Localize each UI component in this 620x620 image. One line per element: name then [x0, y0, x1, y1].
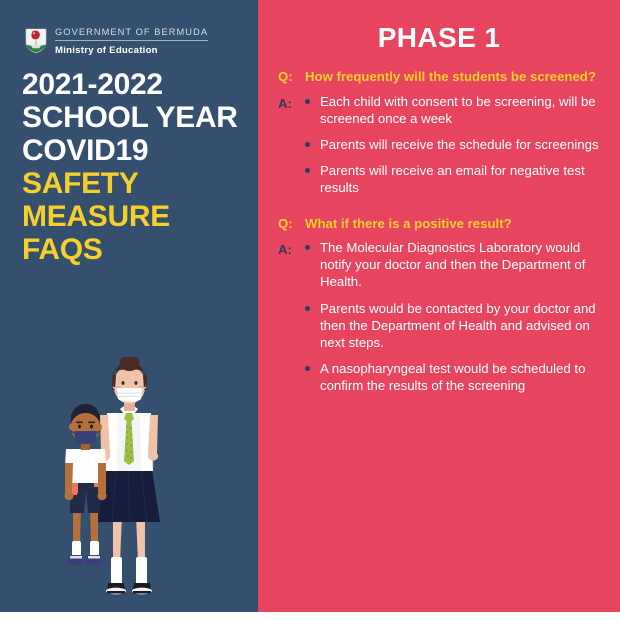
headline-line-3: COVID19 — [22, 134, 258, 167]
answer-bullet-text: Parents would be contacted by your docto… — [320, 301, 596, 350]
headline-line-4: SAFETY — [22, 167, 258, 200]
answer-bullet: Each child with consent to be screening,… — [305, 93, 608, 127]
bullet-icon — [305, 142, 310, 147]
headline-line-2: SCHOOL YEAR — [22, 101, 258, 134]
answer-bullet-list: The Molecular Diagnostics Laboratory wou… — [305, 239, 608, 395]
question-row: Q: What if there is a positive result? — [278, 215, 608, 233]
bullet-icon — [305, 99, 310, 104]
phase-title: PHASE 1 — [258, 22, 620, 54]
answer-bullet: Parents would be contacted by your docto… — [305, 300, 608, 352]
question-label: Q: — [278, 68, 305, 86]
answer-bullet: A nasopharyngeal test would be scheduled… — [305, 360, 608, 394]
left-navy-panel: GOVERNMENT OF BERMUDA Ministry of Educat… — [0, 0, 258, 612]
question-text: What if there is a positive result? — [305, 215, 608, 233]
poster-headline: 2021-2022 SCHOOL YEAR COVID19 SAFETY MEA… — [22, 68, 258, 266]
answer-bullet-text: Parents will receive an email for negati… — [320, 163, 585, 195]
bullet-icon — [305, 168, 310, 173]
bullet-icon — [305, 366, 310, 371]
girl-student-figure — [97, 357, 160, 594]
faq-item-1: Q: How frequently will the students be s… — [278, 68, 608, 197]
answer-label: A: — [278, 93, 305, 113]
answer-label: A: — [278, 239, 305, 259]
logo-text-block: GOVERNMENT OF BERMUDA Ministry of Educat… — [55, 26, 208, 58]
boy-student-figure — [64, 404, 106, 565]
answer-bullet-text: Each child with consent to be screening,… — [320, 94, 596, 126]
answer-bullet-list: Each child with consent to be screening,… — [305, 93, 608, 197]
bullet-icon — [305, 245, 310, 250]
faq-list: Q: How frequently will the students be s… — [278, 68, 608, 406]
question-label: Q: — [278, 215, 305, 233]
question-text: How frequently will the students be scre… — [305, 68, 608, 86]
answer-row: A: The Molecular Diagnostics Laboratory … — [278, 239, 608, 395]
answer-bullet: Parents will receive the schedule for sc… — [305, 136, 608, 153]
question-row: Q: How frequently will the students be s… — [278, 68, 608, 86]
bullet-icon — [305, 306, 310, 311]
government-of-bermuda-label: GOVERNMENT OF BERMUDA — [55, 26, 208, 41]
answer-bullet: The Molecular Diagnostics Laboratory wou… — [305, 239, 608, 291]
poster-canvas: GOVERNMENT OF BERMUDA Ministry of Educat… — [0, 0, 620, 612]
answer-bullet: Parents will receive an email for negati… — [305, 162, 608, 196]
answer-bullet-text: The Molecular Diagnostics Laboratory wou… — [320, 240, 585, 289]
faq-item-2: Q: What if there is a positive result? A… — [278, 215, 608, 395]
government-logo-lockup: GOVERNMENT OF BERMUDA Ministry of Educat… — [24, 26, 208, 58]
right-red-panel: PHASE 1 Q: How frequently will the stude… — [258, 0, 620, 612]
headline-line-5: MEASURE — [22, 200, 258, 233]
headline-line-6: FAQS — [22, 233, 258, 266]
answer-row: A: Each child with consent to be screeni… — [278, 93, 608, 197]
headline-line-1: 2021-2022 — [22, 68, 258, 101]
answer-bullet-text: A nasopharyngeal test would be scheduled… — [320, 361, 585, 393]
answer-bullet-text: Parents will receive the schedule for sc… — [320, 137, 599, 152]
ministry-of-education-label: Ministry of Education — [55, 41, 208, 58]
two-masked-students-illustration — [0, 357, 258, 612]
bermuda-coat-of-arms-icon — [24, 27, 48, 54]
